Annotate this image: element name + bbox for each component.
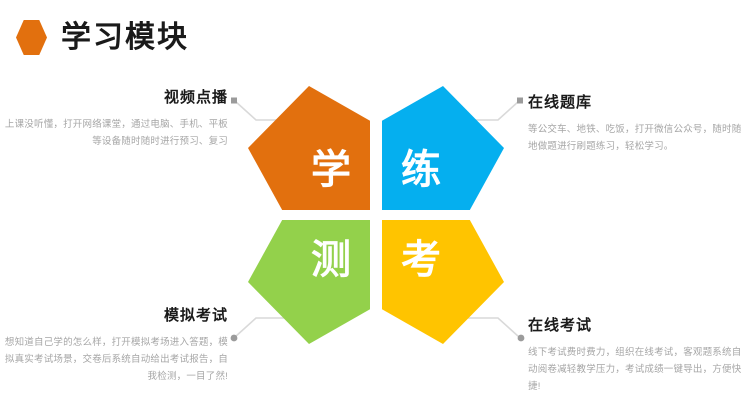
petal-lian[interactable]: 练 xyxy=(382,86,504,210)
study-module-flower: 学 练 测 考 xyxy=(248,86,504,344)
callout-online-exam: 在线考试 线下考试费时费力，组织在线考试，客观题系统自动阅卷减轻教学压力，考试成… xyxy=(528,316,746,395)
petal-ce[interactable]: 测 xyxy=(248,220,370,344)
callout-mock-exam-heading: 模拟考试 xyxy=(0,306,228,326)
petal-xue-glyph: 学 xyxy=(311,150,351,190)
callout-online-question-bank: 在线题库 等公交车、地铁、吃饭，打开微信公众号，随时随地做题进行刷题练习，轻松学… xyxy=(528,93,744,155)
callout-mock-exam: 模拟考试 想知道自己学的怎么样，打开模拟考场进入答题，模拟真实考试场景，交卷后系… xyxy=(0,306,228,385)
callout-mock-exam-body: 想知道自己学的怎么样，打开模拟考场进入答题，模拟真实考试场景，交卷后系统自动给出… xyxy=(0,334,228,385)
callout-video-on-demand: 视频点播 上课没听懂，打开网络课堂，通过电脑、手机、平板等设备随时随时进行预习、… xyxy=(4,88,228,150)
callout-video-on-demand-heading: 视频点播 xyxy=(4,88,228,108)
hexagon-icon xyxy=(16,20,47,55)
callout-online-question-bank-heading: 在线题库 xyxy=(528,93,744,113)
callout-online-question-bank-body: 等公交车、地铁、吃饭，打开微信公众号，随时随地做题进行刷题练习，轻松学习。 xyxy=(528,121,744,155)
petal-kao[interactable]: 考 xyxy=(382,220,504,344)
petal-lian-glyph: 练 xyxy=(401,150,441,190)
petal-kao-glyph: 考 xyxy=(401,240,441,280)
callout-video-on-demand-body: 上课没听懂，打开网络课堂，通过电脑、手机、平板等设备随时随时进行预习、复习 xyxy=(4,116,228,150)
petal-xue[interactable]: 学 xyxy=(248,86,370,210)
page-title-row: 学习模块 xyxy=(16,20,189,55)
page-title: 学习模块 xyxy=(61,21,189,55)
callout-online-exam-heading: 在线考试 xyxy=(528,316,746,336)
petal-ce-glyph: 测 xyxy=(311,240,351,280)
callout-online-exam-body: 线下考试费时费力，组织在线考试，客观题系统自动阅卷减轻教学压力，考试成绩一键导出… xyxy=(528,344,746,395)
